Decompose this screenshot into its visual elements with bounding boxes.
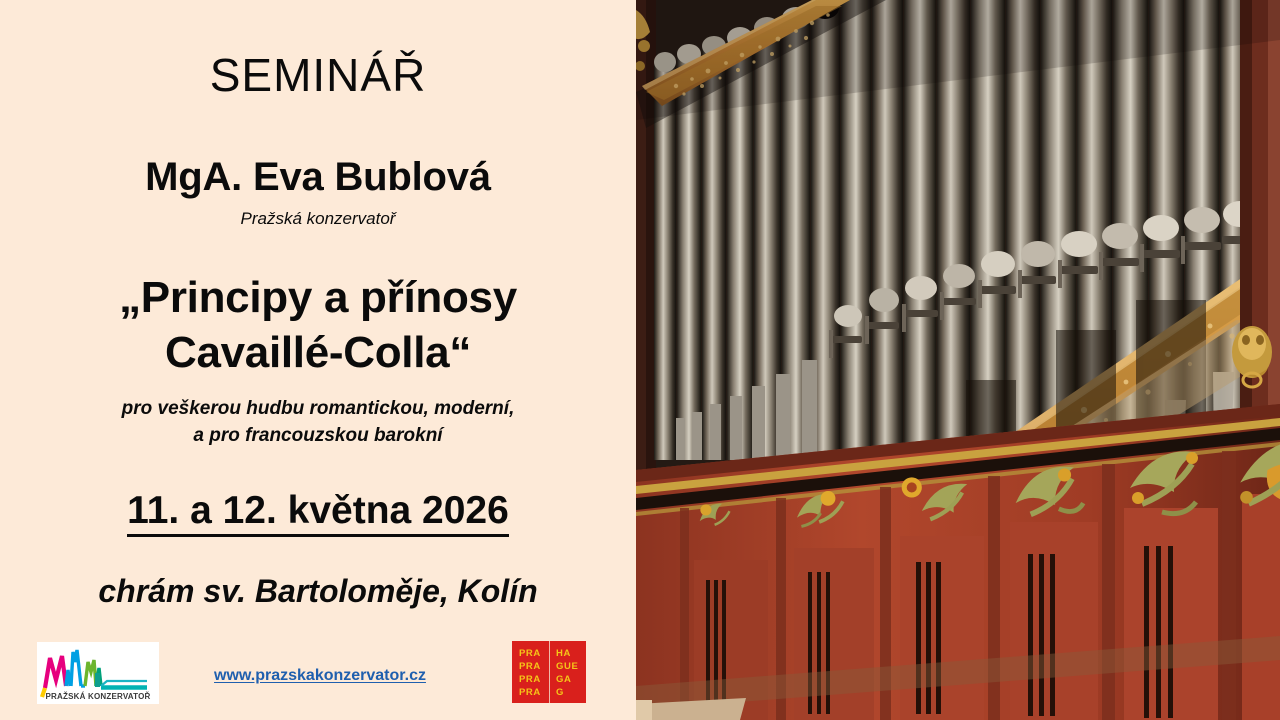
prague-logo-left-3: PRA (519, 687, 549, 699)
prague-logo-left-column: PRA PRA PRA PRA (512, 641, 550, 703)
prague-conservatory-logo: PRAŽSKÁ KONZERVATOŘ (37, 642, 159, 704)
prague-city-logo: PRA PRA PRA PRA HA GUE GA G (512, 641, 586, 703)
seminar-subtitle-line-2: a pro francouzskou barokní (0, 423, 636, 450)
seminar-title-line-1: „Principy a přínosy (0, 270, 636, 325)
conservatory-logo-caption: PRAŽSKÁ KONZERVATOŘ (37, 692, 159, 701)
presenter-name: MgA. Eva Bublová (0, 155, 636, 200)
text-panel: SEMINÁŘ MgA. Eva Bublová Pražská konzerv… (0, 0, 636, 720)
event-date: 11. a 12. května 2026 (0, 489, 636, 533)
page-title: SEMINÁŘ (0, 48, 636, 102)
prague-logo-left-0: PRA (519, 648, 549, 660)
seminar-title: „Principy a přínosy Cavaillé-Colla“ (0, 270, 636, 381)
organ-photo (636, 0, 1280, 720)
event-date-text: 11. a 12. května 2026 (127, 489, 509, 537)
website-link[interactable]: www.prazskakonzervator.cz (190, 667, 450, 685)
seminar-subtitle-line-1: pro veškerou hudbu romantickou, moderní, (0, 396, 636, 423)
prague-logo-right-column: HA GUE GA G (550, 641, 586, 703)
seminar-subtitle: pro veškerou hudbu romantickou, moderní,… (0, 396, 636, 450)
prague-logo-right-0: HA (556, 648, 586, 660)
prague-logo-left-2: PRA (519, 674, 549, 686)
prague-logo-right-1: GUE (556, 661, 586, 673)
prague-logo-right-2: GA (556, 674, 586, 686)
organ-photo-illustration (636, 0, 1280, 720)
prague-logo-right-3: G (556, 687, 586, 699)
presenter-affiliation: Pražská konzervatoř (0, 209, 636, 229)
seminar-title-line-2: Cavaillé-Colla“ (0, 325, 636, 380)
event-venue: chrám sv. Bartoloměje, Kolín (0, 573, 636, 610)
prague-logo-left-1: PRA (519, 661, 549, 673)
poster-root: SEMINÁŘ MgA. Eva Bublová Pražská konzerv… (0, 0, 1280, 720)
